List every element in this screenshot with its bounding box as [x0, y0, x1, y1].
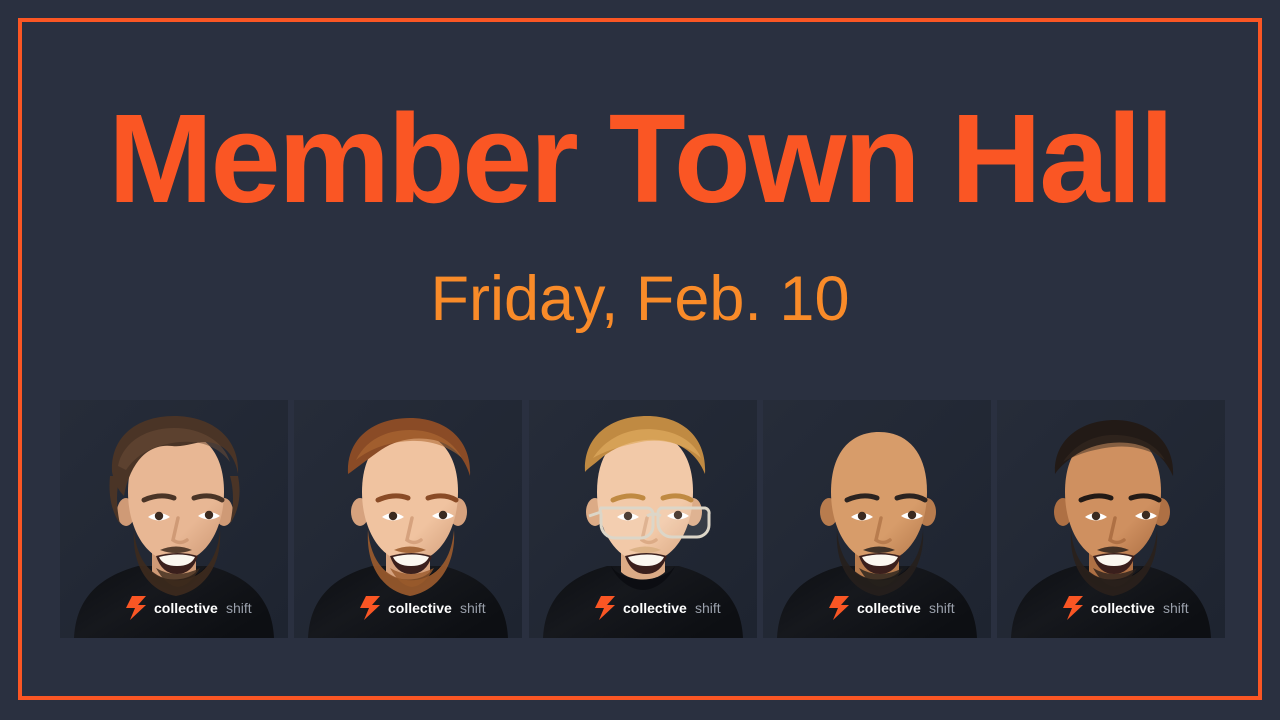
portrait-2-image: collective shift — [294, 400, 522, 638]
page-title: Member Town Hall — [0, 96, 1280, 222]
portrait-3: collective shift — [529, 400, 757, 638]
portrait-4: collective shift — [763, 400, 991, 638]
event-date-subtitle: Friday, Feb. 10 — [0, 268, 1280, 331]
shirt-wordmark-primary: collective — [1091, 600, 1155, 616]
shirt-wordmark-secondary: shift — [929, 600, 955, 616]
shirt-wordmark-secondary: shift — [460, 600, 486, 616]
shirt-wordmark-secondary: shift — [695, 600, 721, 616]
portrait-3-image: collective shift — [529, 400, 757, 638]
portrait-2: collective shift — [294, 400, 522, 638]
eyeglasses-icon — [589, 508, 709, 538]
portrait-5-image: collective shift — [997, 400, 1225, 638]
shirt-wordmark-primary: collective — [857, 600, 921, 616]
slide-canvas: Member Town Hall Friday, Feb. 10 — [0, 0, 1280, 720]
portrait-5: collective shift — [997, 400, 1225, 638]
shirt-wordmark-primary: collective — [623, 600, 687, 616]
team-portrait-row: collective shift — [60, 398, 1225, 638]
portrait-4-image: collective shift — [763, 400, 991, 638]
shirt-wordmark-primary: collective — [388, 600, 452, 616]
shirt-wordmark-secondary: shift — [226, 600, 252, 616]
portrait-1-image: collective shift — [60, 400, 288, 638]
portrait-1: collective shift — [60, 400, 288, 638]
shirt-wordmark-primary: collective — [154, 600, 218, 616]
shirt-wordmark-secondary: shift — [1163, 600, 1189, 616]
